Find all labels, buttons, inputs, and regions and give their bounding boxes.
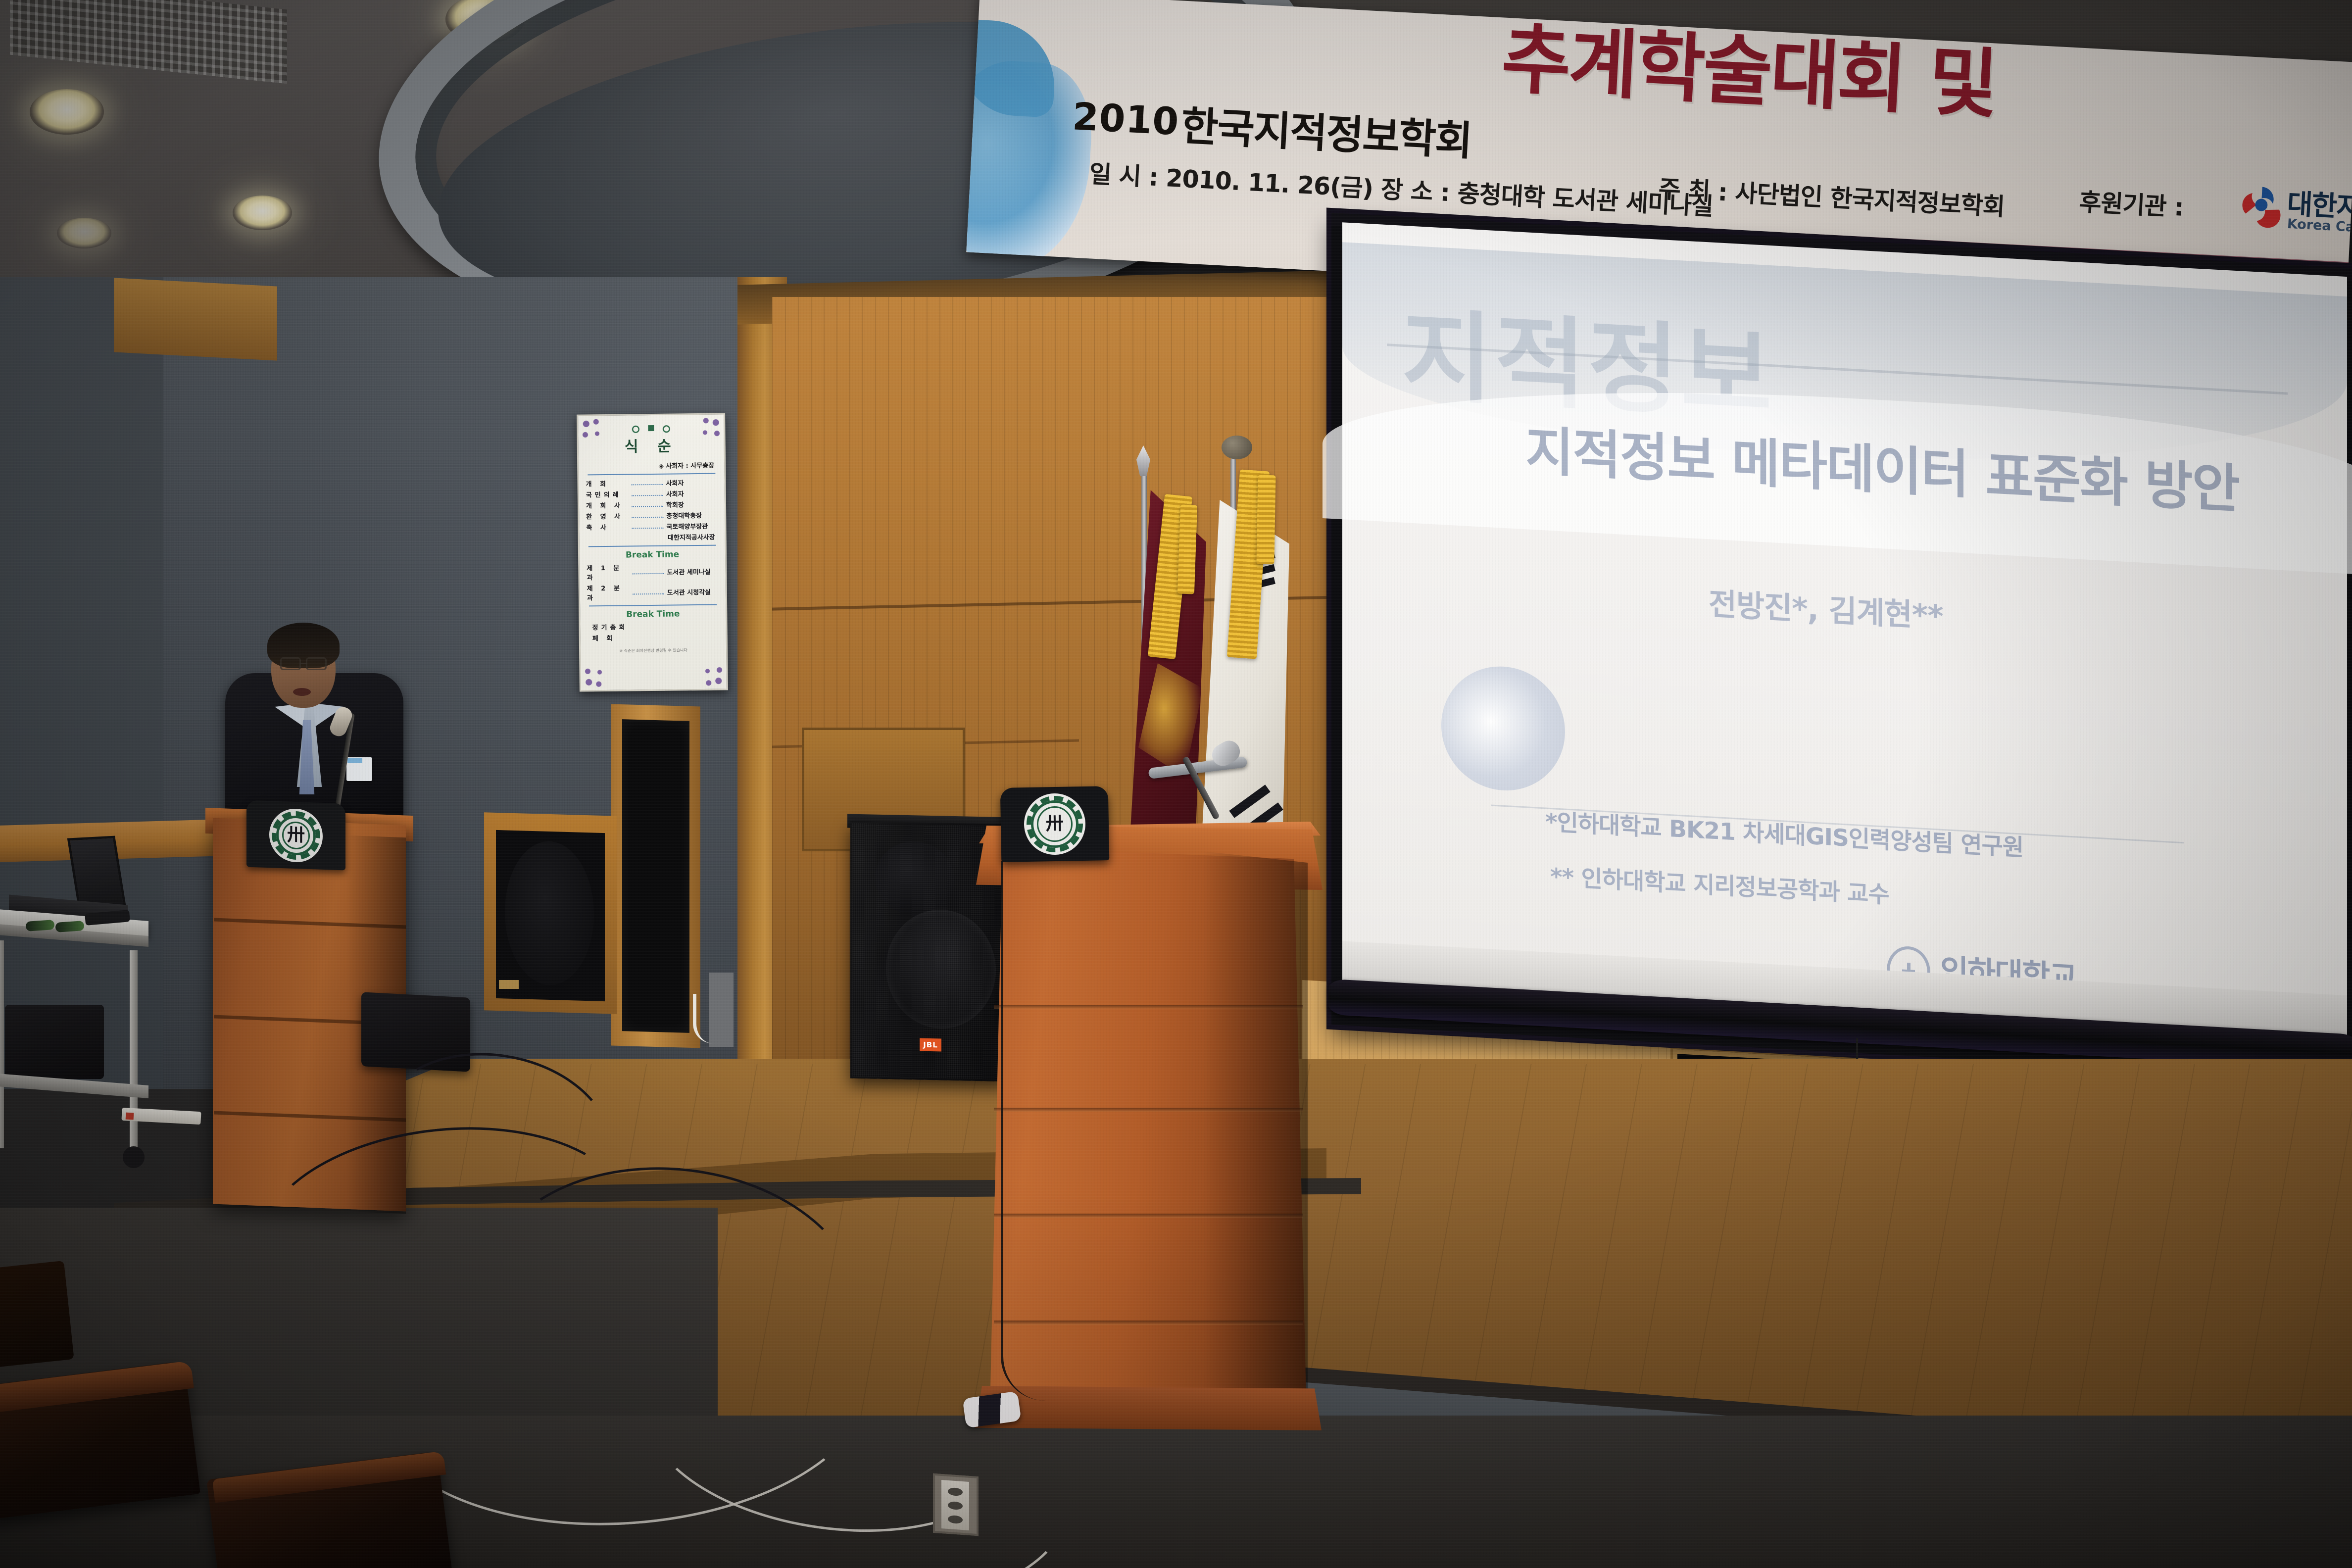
poster-row-label: 축 사 <box>586 522 629 532</box>
poster-session-value: 도서관 세미나실 <box>667 566 718 576</box>
wall-speaker-cabinet-tall <box>622 719 689 1033</box>
slide-affiliation-2: ** 인하대학교 지리정보공학과 교수 <box>1550 857 1889 910</box>
seal-hanja: 卅 <box>1046 815 1064 833</box>
main-podium-emblem-plate: 卅 <box>1000 786 1110 862</box>
program-poster: 식 순 ◈ 사회자 : 사무총장 개 회 사회자 국민의례 사회자 개 회 사 … <box>577 413 728 691</box>
left-podium-emblem-plate: 卅 <box>246 800 345 871</box>
poster-row: 국민의례 사회자 <box>586 489 718 499</box>
presenter-glasses-bridge <box>301 663 307 664</box>
flag-finial-ball-icon <box>1222 436 1252 459</box>
poster-row: 개 회 사회자 <box>586 478 717 489</box>
poster-session-value: 도서관 시청각실 <box>667 587 719 596</box>
poster-row-leader <box>632 491 663 496</box>
presenter-mouth <box>293 688 311 696</box>
poster-mc-line: ◈ 사회자 : 사무총장 <box>586 460 714 471</box>
jbl-brand-badge: JBL <box>920 1038 941 1052</box>
outlet-socket[interactable] <box>948 1515 963 1524</box>
poster-row-value: 충청대학총장 <box>666 510 718 520</box>
poster-break-label: Break Time <box>587 549 718 561</box>
flag-tassel <box>1256 475 1275 565</box>
outlet-socket[interactable] <box>948 1487 963 1496</box>
chung-cheong-college-seal-icon: 卅 <box>1024 793 1086 855</box>
banner-sponsor-label: 후원기관 : <box>2078 183 2184 223</box>
poster-divider <box>588 473 715 476</box>
poster-session-label: 제 2 분과 <box>587 583 630 602</box>
wall-wood-band <box>114 278 277 360</box>
poster-ornament-corner <box>582 663 608 689</box>
poster-closing-item: 폐 회 <box>592 632 719 643</box>
conference-hall-photo: 식 순 ◈ 사회자 : 사무총장 개 회 사회자 국민의례 사회자 개 회 사 … <box>0 0 2352 1568</box>
seal-hanja: 卅 <box>287 826 305 844</box>
poster-row: 축 사 국토해양부장관 <box>586 521 718 532</box>
poster-row-leader <box>632 513 663 518</box>
slide-bg-circle <box>1441 663 1565 794</box>
poster-ornament-corner <box>579 417 605 443</box>
chung-cheong-college-seal-icon: 卅 <box>269 808 323 863</box>
ceiling-downlight <box>233 196 292 230</box>
presenter-hair <box>267 623 340 668</box>
poster-session-label: 제 1 분과 <box>587 562 629 582</box>
flag-tassel <box>1177 504 1197 594</box>
poster-ornament-corner <box>699 662 726 688</box>
poster-divider <box>588 545 716 547</box>
poster-row-value: 국토해양부장관 <box>666 521 718 531</box>
poster-row-leader <box>632 569 664 574</box>
poster-row-leader <box>631 481 663 486</box>
projected-slide: 지적정보 지적정보 메타데이터 표준화 방안 전방진*, 김계현** *인하대학… <box>1342 222 2347 1049</box>
korea-cadastral-survey-logo-icon <box>2236 180 2286 230</box>
ceiling-downlight <box>57 218 111 248</box>
main-podium-shadow <box>1203 851 1308 1421</box>
poster-row: 환 영 사 충청대학총장 <box>586 510 718 521</box>
outlet-socket[interactable] <box>948 1501 963 1510</box>
equipment-bag <box>5 1005 104 1079</box>
poster-row-leader <box>632 524 663 529</box>
poster-row-label: 국민의례 <box>586 489 629 499</box>
av-cart-leg <box>0 940 4 1148</box>
poster-closing-item: 정기총회 <box>592 621 719 632</box>
poster-row-value: 학회장 <box>666 499 718 509</box>
poster-row: 개 회 사 학회장 <box>586 499 718 510</box>
ceiling-downlight <box>30 89 104 135</box>
water-bottle <box>55 921 84 932</box>
auditorium-seat <box>0 1261 74 1372</box>
slide-authors: 전방진*, 김계현** <box>1709 579 1943 636</box>
ceiling-vent-grille-icon <box>10 0 287 84</box>
projection-screen: 지적정보 지적정보 메타데이터 표준화 방안 전방진*, 김계현** *인하대학… <box>1331 213 2352 1080</box>
poster-footnote: ※ 식순은 회의진행상 변경될 수 있습니다 <box>588 647 719 654</box>
banner-year: 2010 <box>1072 94 1180 144</box>
poster-ornament-corner <box>697 415 723 441</box>
sponsor-name-en: Korea Cadastral Survey <box>2287 216 2352 241</box>
poster-row-leader <box>633 589 664 594</box>
poster-session-row: 제 2 분과 도서관 시청각실 <box>587 582 719 602</box>
banner-society-name: 한국지적정보학회 <box>1179 93 1473 167</box>
presenter-name-badge-header <box>347 758 362 763</box>
water-bottle <box>25 920 54 931</box>
poster-row-value: 사회자 <box>666 478 717 488</box>
av-cart-caster-wheel <box>123 1146 145 1168</box>
power-strip-switch[interactable] <box>126 1113 134 1120</box>
poster-row-label: 개 회 사 <box>586 500 629 510</box>
poster-row-leader <box>632 502 663 507</box>
presenter-glasses-icon <box>280 657 301 670</box>
poster-divider <box>589 604 717 607</box>
poster-session-row: 제 1 분과 도서관 세미나실 <box>587 562 718 582</box>
poster-row-label: 개 회 <box>586 479 628 489</box>
poster-row-extra: 대한지적공사사장 <box>587 532 715 543</box>
slide-affiliation-1: *인하대학교 BK21 차세대GIS인력양성팀 연구원 <box>1545 802 2023 862</box>
back-wall-grey-left <box>0 277 163 1128</box>
av-cart-leg <box>130 950 138 1153</box>
poster-break-label: Break Time <box>587 609 719 620</box>
podium-microphone-cable <box>1001 861 1045 1401</box>
poster-row-value: 사회자 <box>666 489 718 498</box>
poster-flourish-icon <box>629 423 673 434</box>
presenter-glasses-icon <box>306 657 327 670</box>
poster-row-label: 환 영 사 <box>586 511 629 521</box>
wall-outlet[interactable] <box>941 1480 969 1530</box>
speaker-label-sticker <box>499 980 519 989</box>
